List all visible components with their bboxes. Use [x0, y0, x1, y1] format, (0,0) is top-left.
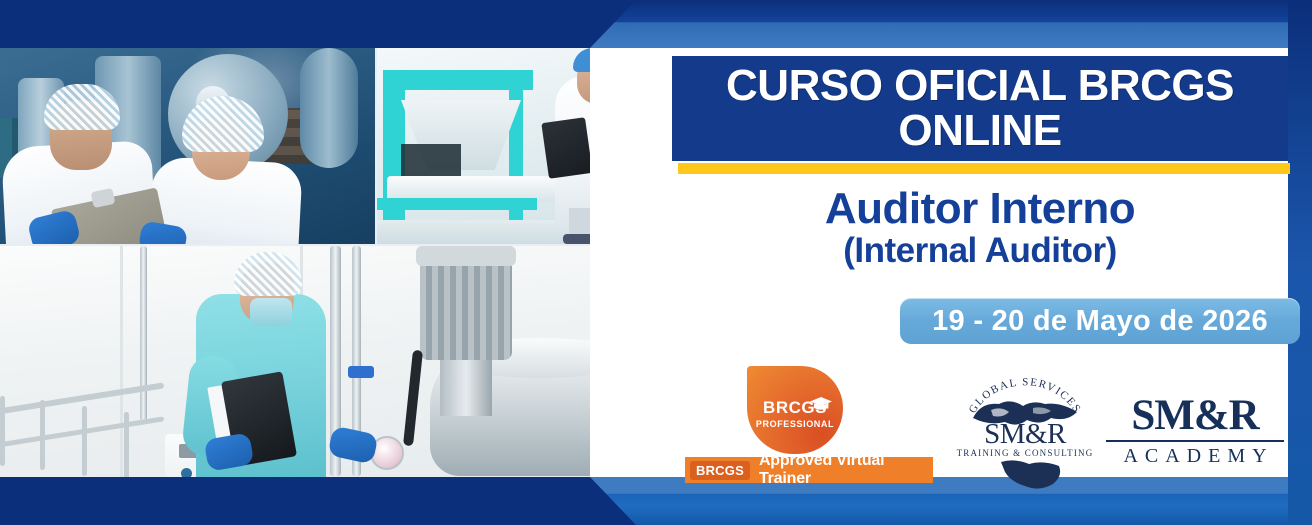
smr-global-services-logo: GLOBAL SERVICES SM&R TRAINING & CONSULTI…	[955, 368, 1095, 490]
photo-technician-at-mixer	[0, 246, 660, 477]
photo-inspector-production-line	[377, 48, 660, 244]
smr-academy-name: SM&R	[1100, 394, 1290, 437]
photo-machine-opening	[401, 144, 461, 178]
photo-motor-cap	[416, 246, 516, 266]
brcgs-bar-text: Approved Virtual Trainer	[759, 452, 933, 488]
photo-railing	[0, 396, 160, 476]
course-subtitle-es: Auditor Interno	[672, 186, 1288, 232]
graduation-cap-icon	[809, 396, 833, 412]
photo-shoe	[601, 234, 631, 244]
smr-academy-rule	[1106, 440, 1284, 442]
photo-pipe	[140, 246, 147, 421]
photo-motor	[420, 256, 512, 360]
course-title-line1: CURSO OFICIAL BRCGS	[726, 61, 1234, 110]
photo-hairnet	[234, 252, 302, 296]
photo-blue-cap	[573, 48, 625, 72]
photo-collage-panel	[0, 0, 700, 525]
photo-teal-frame	[383, 70, 533, 90]
course-title-banner: CURSO OFICIAL BRCGS ONLINE	[672, 56, 1288, 161]
logo-row: BRCGS PROFESSIONAL BRCGS Approved Virtua…	[640, 366, 1312, 492]
brcgs-mark-subtext: PROFESSIONAL	[747, 419, 843, 429]
brcgs-shield-icon: BRCGS PROFESSIONAL	[747, 366, 843, 454]
course-subtitle-en: (Internal Auditor)	[672, 232, 1288, 271]
smr-global-name: SM&R	[955, 418, 1095, 451]
course-promo-banner: CURSO OFICIAL BRCGS ONLINE Auditor Inter…	[0, 0, 1312, 525]
course-subtitle: Auditor Interno (Internal Auditor)	[672, 186, 1288, 271]
smr-academy-sub: ACADEMY	[1100, 446, 1290, 466]
photo-teal-frame	[377, 198, 537, 210]
content-panel: CURSO OFICIAL BRCGS ONLINE Auditor Inter…	[640, 0, 1312, 525]
photo-pipe	[300, 48, 358, 168]
photo-pipe-label	[348, 366, 374, 378]
photo-face-mask	[250, 298, 292, 326]
brcgs-bar-chip: BRCGS	[690, 461, 750, 480]
course-date-text: 19 - 20 de Mayo de 2026	[932, 305, 1268, 338]
photo-two-food-inspectors	[0, 48, 375, 244]
course-title-line2: ONLINE	[898, 106, 1061, 155]
photo-clipboard	[541, 117, 592, 179]
brcgs-professional-logo: BRCGS PROFESSIONAL BRCGS Approved Virtua…	[685, 366, 945, 492]
globe-south-icon	[997, 458, 1067, 492]
photo-collage-inner	[0, 48, 660, 477]
course-title: CURSO OFICIAL BRCGS ONLINE	[720, 64, 1240, 154]
photo-hose	[403, 350, 423, 447]
photo-tank-shaft	[440, 358, 492, 416]
course-date-badge: 19 - 20 de Mayo de 2026	[900, 298, 1300, 344]
photo-shoe	[563, 234, 593, 244]
gold-divider	[678, 163, 1290, 174]
photo-floor	[377, 220, 660, 244]
smr-global-tagline: TRAINING & CONSULTING	[955, 448, 1095, 458]
brcgs-approved-virtual-trainer-bar: BRCGS Approved Virtual Trainer	[685, 457, 933, 483]
smr-academy-logo: SM&R ACADEMY	[1100, 394, 1290, 470]
